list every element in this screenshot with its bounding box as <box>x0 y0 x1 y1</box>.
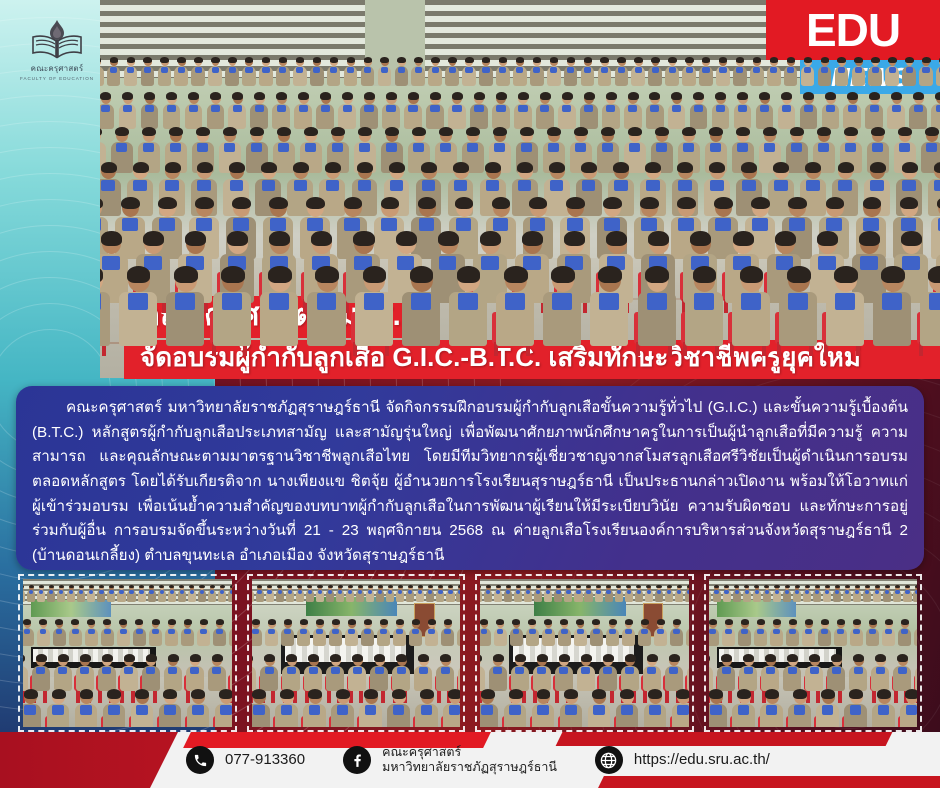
edu-badge-label: EDU <box>806 7 900 53</box>
gallery-thumb-1-image <box>23 579 232 727</box>
faculty-logo: คณะครุศาสตร์ FACULTY OF EDUCATION <box>14 12 100 86</box>
logo-english-name: FACULTY OF EDUCATION <box>20 76 94 81</box>
globe-icon <box>595 746 623 774</box>
gallery-strip <box>18 574 922 732</box>
facebook-icon <box>343 746 371 774</box>
footer-facebook-item[interactable]: คณะครุศาสตร์ มหาวิทยาลัยราชภัฏสุราษฎร์ธา… <box>343 745 557 775</box>
footer-facebook-name: คณะครุศาสตร์ มหาวิทยาลัยราชภัฏสุราษฎร์ธา… <box>382 745 557 775</box>
footer-website-item[interactable]: https://edu.sru.ac.th/ <box>595 746 770 774</box>
article-body-text: คณะครุศาสตร์ มหาวิทยาลัยราชภัฏสุราษฎร์ธา… <box>32 396 908 568</box>
gallery-thumb-3[interactable] <box>475 574 694 732</box>
book-flame-icon <box>30 17 84 61</box>
gallery-thumb-4[interactable] <box>704 574 923 732</box>
footer-phone-item[interactable]: 077-913360 <box>186 746 305 774</box>
article-panel: คณะครุศาสตร์ มหาวิทยาลัยราชภัฏสุราษฎร์ธา… <box>16 386 924 570</box>
gallery-thumb-4-image <box>709 579 918 727</box>
footer-phone-number: 077-913360 <box>225 751 305 769</box>
footer-contact-list: 077-913360 คณะครุศาสตร์ มหาวิทยาลัยราชภั… <box>0 732 940 788</box>
gallery-thumb-3-image <box>480 579 689 727</box>
gallery-thumb-2[interactable] <box>247 574 466 732</box>
gallery-thumb-2-image <box>252 579 461 727</box>
footer-bar: 077-913360 คณะครุศาสตร์ มหาวิทยาลัยราชภั… <box>0 732 940 788</box>
phone-icon <box>186 746 214 774</box>
footer-website-url: https://edu.sru.ac.th/ <box>634 751 770 769</box>
news-poster: คณะครุศาสตร์ FACULTY OF EDUCATION EDU NE… <box>0 0 940 788</box>
logo-thai-name: คณะครุศาสตร์ <box>31 62 84 75</box>
edu-badge: EDU <box>766 0 940 60</box>
footer-facebook-line-2: มหาวิทยาลัยราชภัฏสุราษฎร์ธานี <box>382 760 557 775</box>
gallery-thumb-1[interactable] <box>18 574 237 732</box>
footer-facebook-line-1: คณะครุศาสตร์ <box>382 745 557 760</box>
